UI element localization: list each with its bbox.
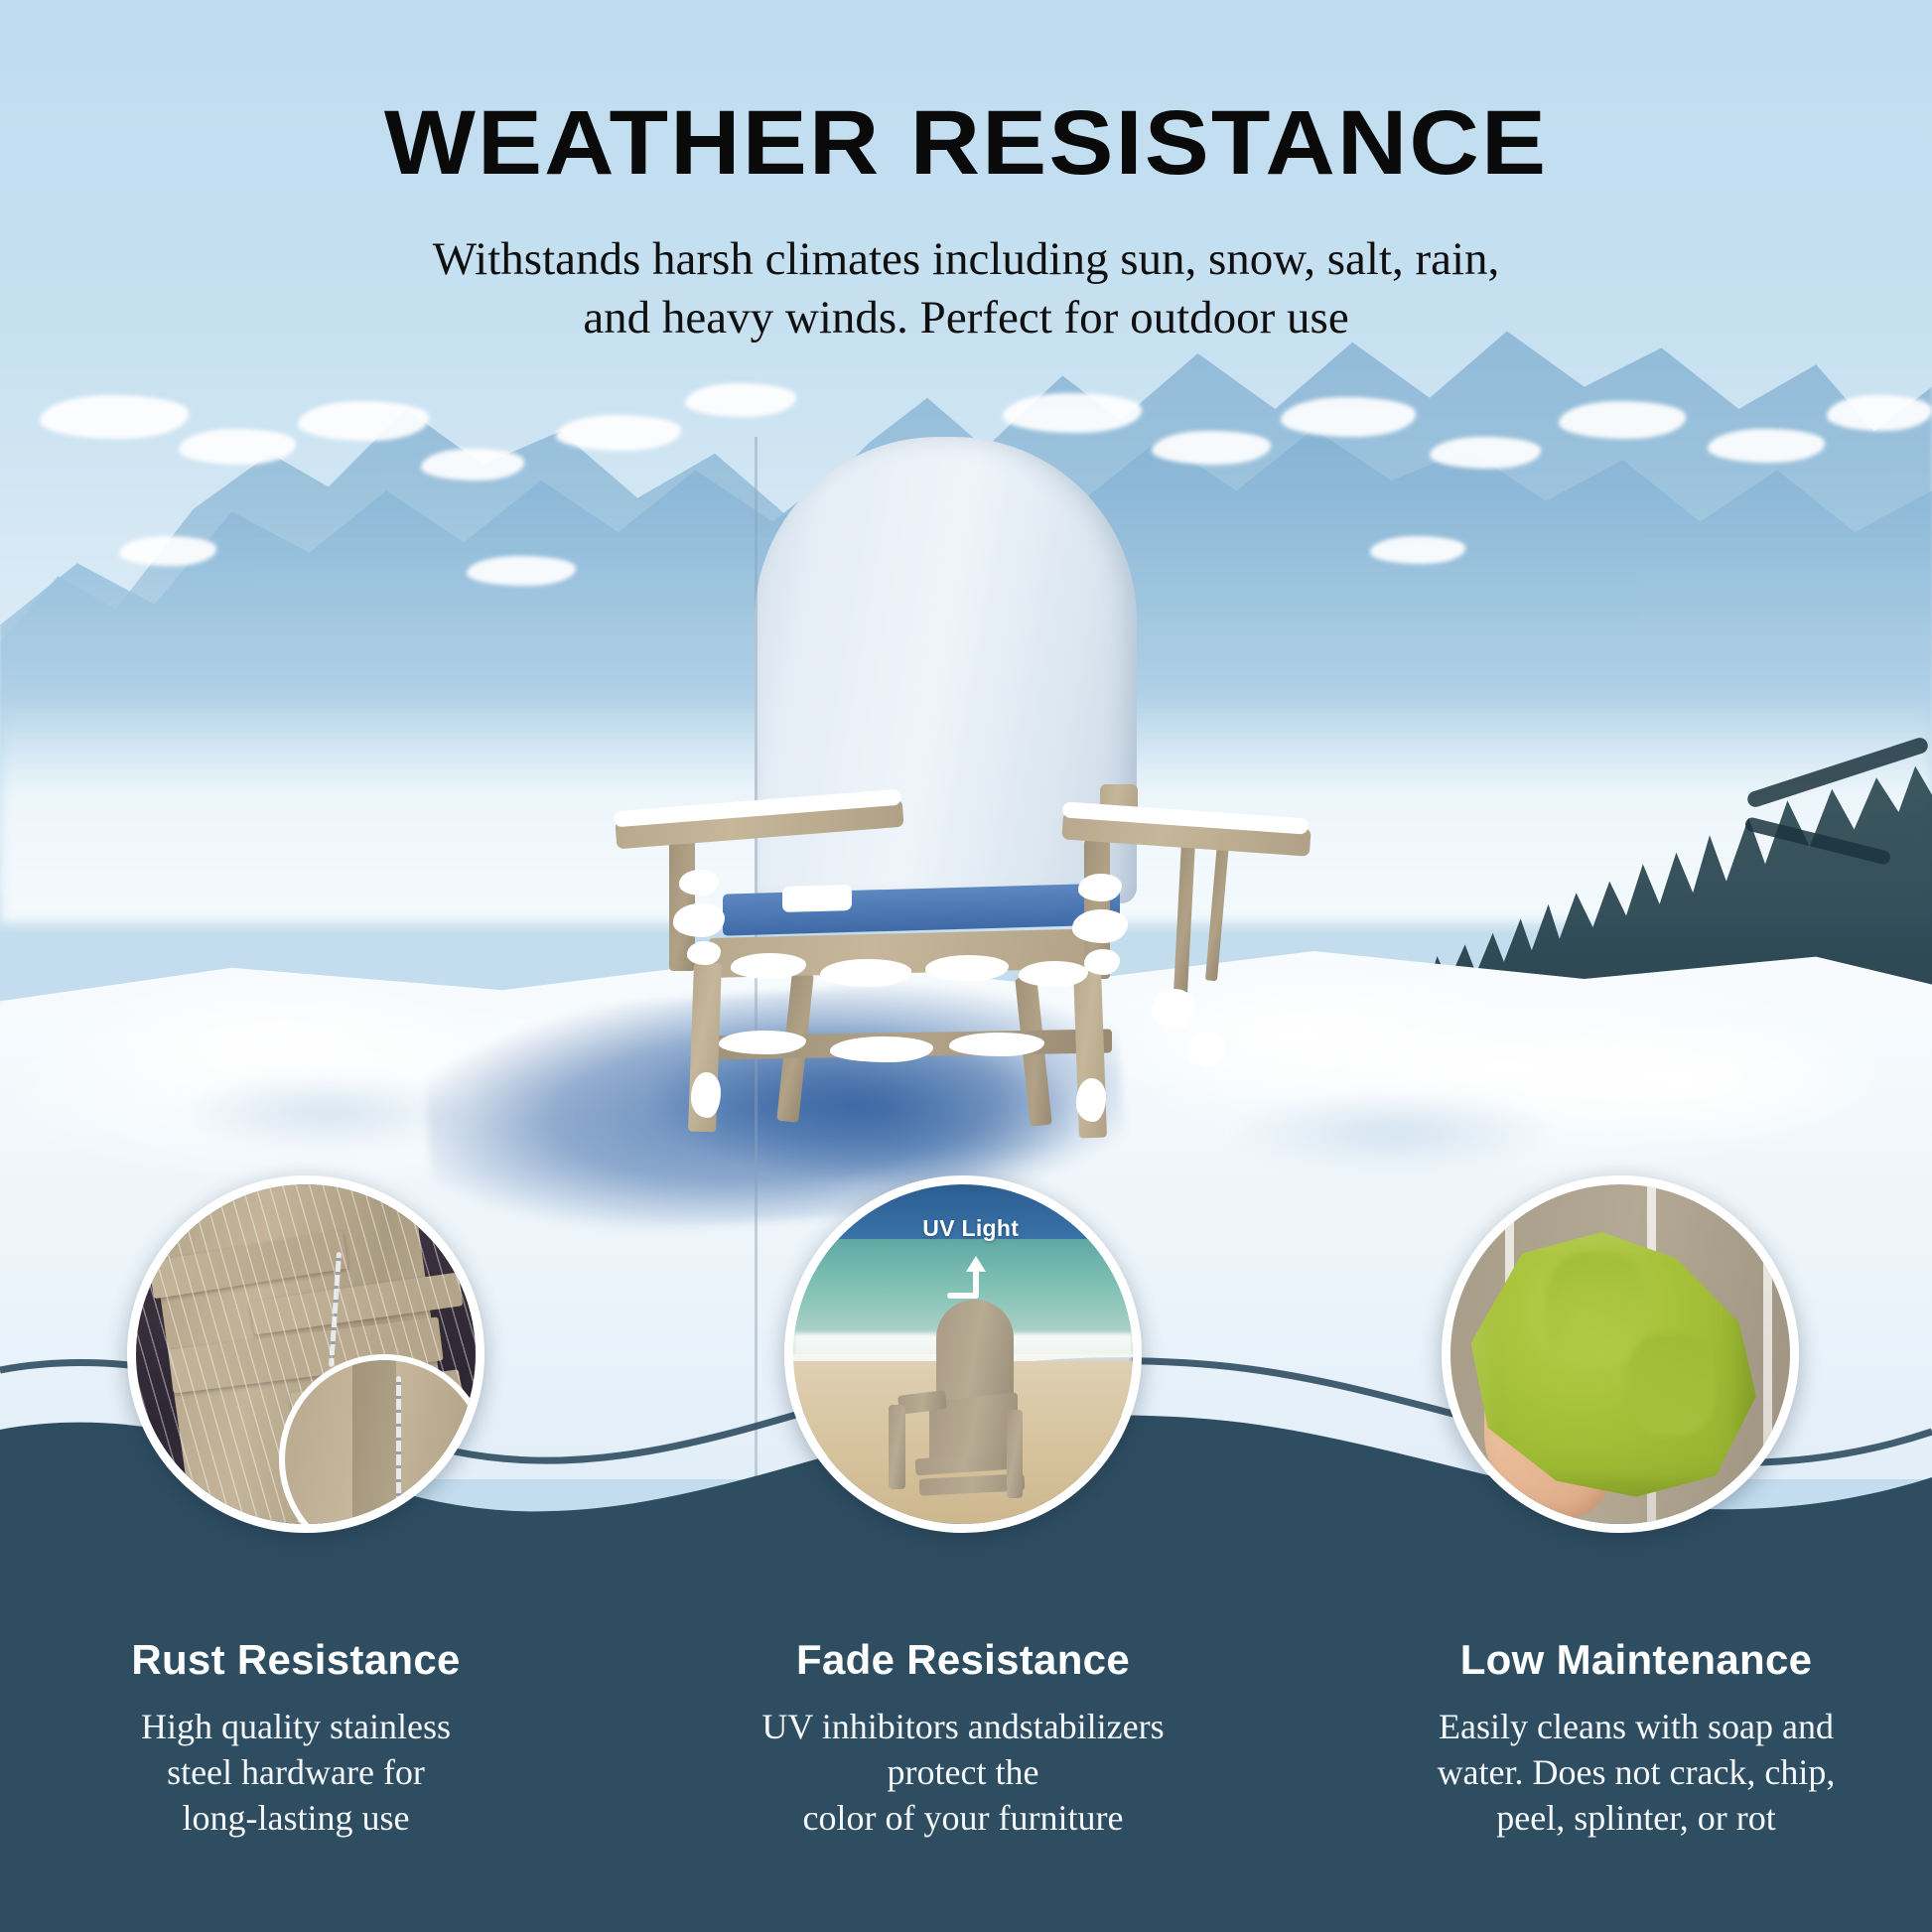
feature-title: Low Maintenance bbox=[1368, 1636, 1904, 1684]
chair-seat-snow bbox=[782, 885, 852, 912]
feature-description: High quality stainless steel hardware fo… bbox=[28, 1704, 564, 1841]
feature-card-low-maintenance: Low Maintenance Easily cleans with soap … bbox=[1368, 1636, 1904, 1841]
feature-image-fade-resistance: UV Light bbox=[784, 1175, 1142, 1533]
beach-chair-illustration bbox=[885, 1300, 1054, 1510]
uv-light-label: UV Light bbox=[922, 1215, 1019, 1242]
feature-card-rust-resistance: Rust Resistance High quality stainless s… bbox=[28, 1636, 564, 1841]
feature-description: UV inhibitors andstabilizers protect the… bbox=[695, 1704, 1231, 1841]
chair-back-rail-2 bbox=[1205, 842, 1229, 982]
feature-image-rust-resistance bbox=[127, 1175, 484, 1533]
feature-card-fade-resistance: Fade Resistance UV inhibitors andstabili… bbox=[695, 1636, 1231, 1841]
feature-image-low-maintenance bbox=[1442, 1175, 1799, 1533]
feature-description: Easily cleans with soap and water. Does … bbox=[1368, 1704, 1904, 1841]
feature-title: Fade Resistance bbox=[695, 1636, 1231, 1684]
hero-adirondack-chair bbox=[635, 437, 1330, 1072]
page-subtitle: Withstands harsh climates including sun,… bbox=[0, 230, 1932, 347]
uv-arrow-icon bbox=[942, 1252, 1002, 1304]
feature-title: Rust Resistance bbox=[28, 1636, 564, 1684]
infographic-canvas: UV Light WEATHER RESISTANCE Withstands h… bbox=[0, 0, 1932, 1932]
chair-back-rail-1 bbox=[1173, 838, 1195, 998]
page-title: WEATHER RESISTANCE bbox=[0, 91, 1932, 196]
